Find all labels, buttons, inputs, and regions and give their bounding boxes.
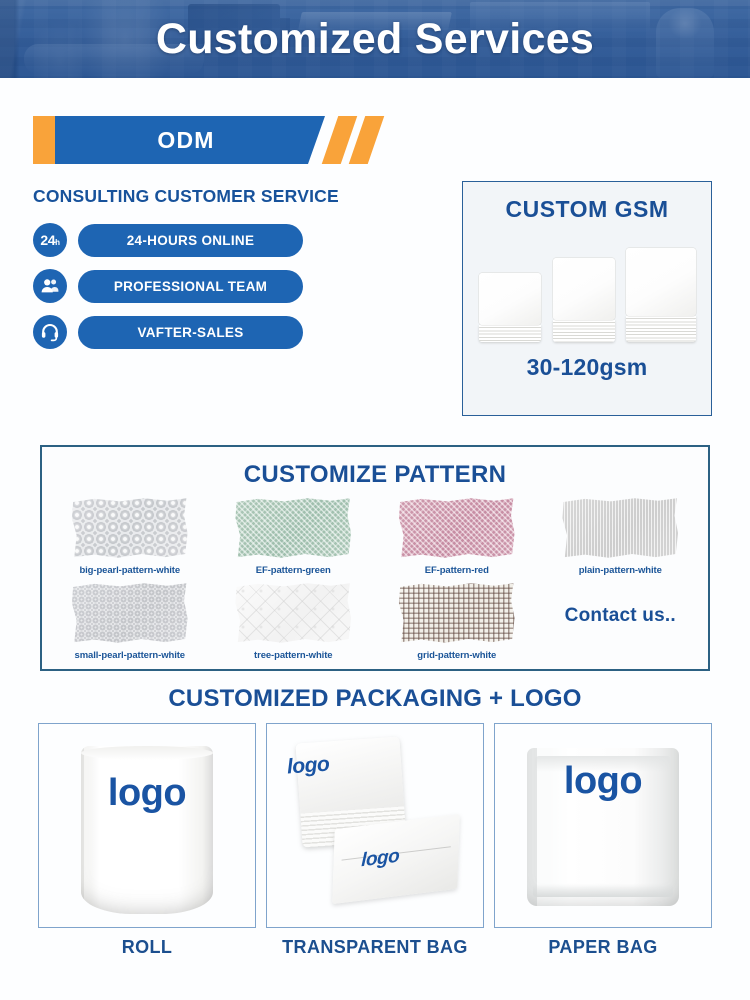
pattern-cell-ef-green[interactable]: EF-pattern-green	[218, 497, 368, 576]
paper-bag-logo-text: logo	[495, 760, 711, 803]
service-item-24-hours[interactable]: 24h 24-HOURS ONLINE	[33, 223, 433, 257]
roll-top-edge	[81, 746, 213, 760]
pattern-label: plain-pattern-white	[545, 565, 695, 576]
ribbon-left-accent-bar	[33, 116, 55, 164]
packaging-caption-paper-bag: PAPER BAG	[494, 937, 712, 958]
sheet-top-face	[626, 248, 696, 316]
service-item-professional-team[interactable]: PROFESSIONAL TEAM	[33, 269, 433, 303]
customize-pattern-panel: CUSTOMIZE PATTERN big-pearl-pattern-whit…	[40, 445, 710, 671]
page-title: Customized Services	[0, 0, 750, 78]
odm-ribbon: ODM	[0, 116, 750, 164]
pattern-row-1: big-pearl-pattern-white EF-pattern-green…	[42, 497, 708, 576]
packaging-caption-transparent-bag: TRANSPARENT BAG	[266, 937, 484, 958]
consulting-service-block: CONSULTING CUSTOMER SERVICE 24h 24-HOURS…	[33, 186, 433, 361]
sheet-top-face	[553, 258, 615, 320]
sheet-top-face	[479, 273, 541, 325]
pattern-label: grid-pattern-white	[382, 650, 532, 661]
swatch-ef-green	[234, 497, 352, 559]
packaging-row: logo ROLL logo logo TRANSPARENT BAG logo…	[0, 723, 750, 958]
sheet-edges	[553, 320, 615, 342]
gsm-sample-photo	[463, 229, 711, 354]
packaging-cell-transparent-bag[interactable]: logo logo TRANSPARENT BAG	[266, 723, 484, 958]
packaging-section-title: CUSTOMIZED PACKAGING + LOGO	[0, 685, 750, 713]
ribbon-label: ODM	[157, 127, 214, 154]
contact-us-cell[interactable]: Contact us..	[545, 582, 695, 650]
pattern-row-2: small-pearl-pattern-white tree-pattern-w…	[42, 582, 708, 661]
service-label-professional-team[interactable]: PROFESSIONAL TEAM	[78, 270, 303, 303]
packaging-caption-roll: ROLL	[38, 937, 256, 958]
24-hours-clock-icon: 24h	[33, 223, 67, 257]
contact-us-text: Contact us..	[565, 605, 676, 627]
services-and-gsm-row: CONSULTING CUSTOMER SERVICE 24h 24-HOURS…	[0, 186, 750, 431]
pattern-label: tree-pattern-white	[218, 650, 368, 661]
pattern-cell-ef-red[interactable]: EF-pattern-red	[382, 497, 532, 576]
swatch-tree-white	[234, 582, 352, 644]
team-people-icon	[33, 269, 67, 303]
sheet-edges	[626, 316, 696, 342]
paper-bag-bottom-seam	[533, 884, 673, 897]
packaging-cell-roll[interactable]: logo ROLL	[38, 723, 256, 958]
gsm-panel-title: CUSTOM GSM	[463, 196, 711, 223]
swatch-grid-white	[398, 582, 516, 644]
flat-tissue-sheet-photo: logo	[332, 814, 460, 904]
pattern-label: big-pearl-pattern-white	[55, 565, 205, 576]
pattern-cell-tree-white[interactable]: tree-pattern-white	[218, 582, 368, 661]
service-label-after-sales[interactable]: VAFTER-SALES	[78, 316, 303, 349]
transparent-bag-logo-text: logo	[286, 753, 330, 780]
service-item-after-sales[interactable]: VAFTER-SALES	[33, 315, 433, 349]
fabric-sheet-stack-small	[479, 273, 541, 342]
pattern-cell-big-pearl-white[interactable]: big-pearl-pattern-white	[55, 497, 205, 576]
swatch-big-pearl-white	[71, 497, 189, 559]
pattern-panel-title: CUSTOMIZE PATTERN	[42, 461, 708, 489]
hero-banner: Customized Services	[0, 0, 750, 78]
pattern-cell-grid-white[interactable]: grid-pattern-white	[382, 582, 532, 661]
packaging-card-transparent-bag: logo logo	[266, 723, 484, 928]
pattern-label: EF-pattern-red	[382, 565, 532, 576]
pattern-cell-small-pearl-white[interactable]: small-pearl-pattern-white	[55, 582, 205, 661]
service-label-24-hours[interactable]: 24-HOURS ONLINE	[78, 224, 303, 257]
consulting-heading: CONSULTING CUSTOMER SERVICE	[33, 186, 433, 207]
headset-support-icon	[33, 315, 67, 349]
swatch-plain-white	[561, 497, 679, 559]
roll-logo-text: logo	[39, 772, 255, 815]
fabric-sheet-stack-medium	[553, 258, 615, 342]
pattern-cell-plain-white[interactable]: plain-pattern-white	[545, 497, 695, 576]
fabric-sheet-stack-large	[626, 248, 696, 342]
swatch-small-pearl-white	[71, 582, 189, 644]
gsm-range-value: 30-120gsm	[463, 354, 711, 381]
swatch-ef-red	[398, 497, 516, 559]
transparent-bag-sheet-logo-text: logo	[361, 845, 400, 872]
sheet-edges	[479, 325, 541, 342]
pattern-label: small-pearl-pattern-white	[55, 650, 205, 661]
custom-gsm-panel: CUSTOM GSM 30-120gsm	[462, 181, 712, 416]
packaging-card-paper-bag: logo	[494, 723, 712, 928]
packaging-card-roll: logo	[38, 723, 256, 928]
packaging-cell-paper-bag[interactable]: logo PAPER BAG	[494, 723, 712, 958]
pattern-label: EF-pattern-green	[218, 565, 368, 576]
ribbon-body: ODM	[55, 116, 325, 164]
